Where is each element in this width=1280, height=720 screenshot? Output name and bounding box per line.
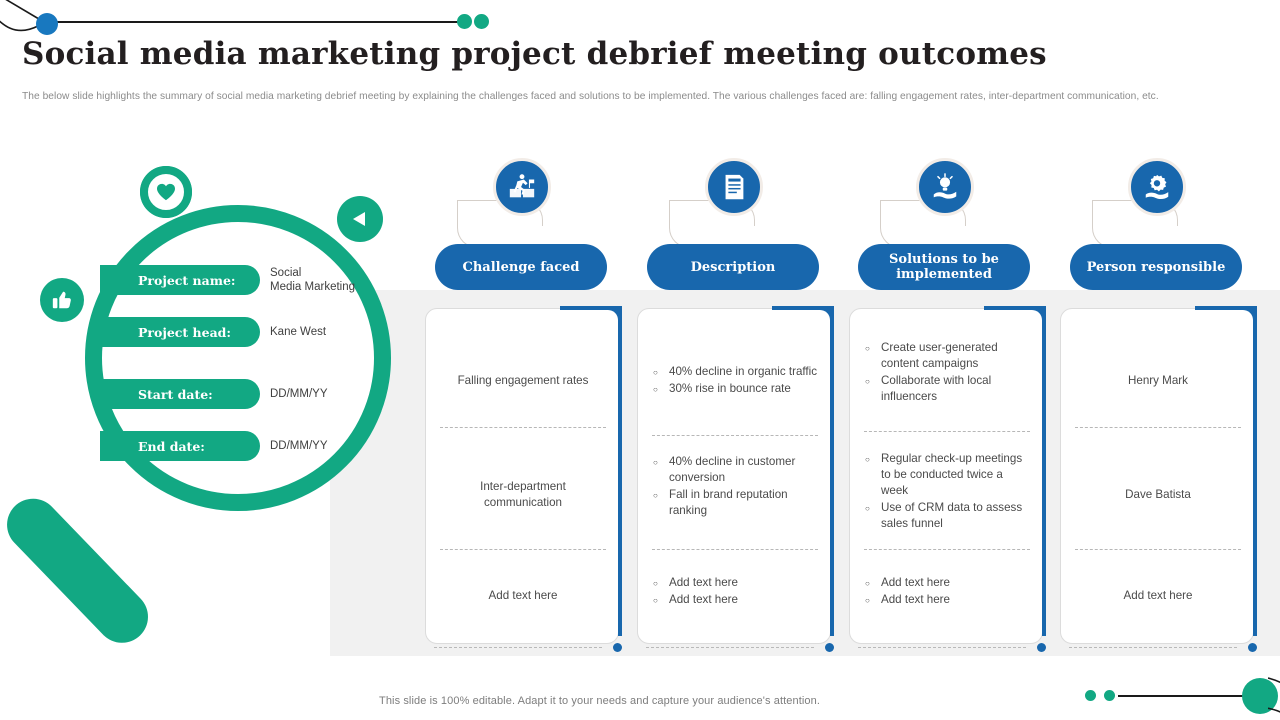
bullet-list: Regular check-up meetings to be conducte… [864,451,1030,533]
cell-divider [1075,427,1241,428]
cell-text: Dave Batista [1125,487,1191,503]
project-info-row: Project name: Social Media Marketing [100,265,420,295]
cell-solutions-1: Create user-generated content campaigns … [850,337,1044,409]
challenge-header-pill[interactable]: Challenge faced [435,244,607,290]
cell-divider [1075,549,1241,550]
thumb-glyph [51,289,73,311]
end-date-label-pill: End date: [100,431,260,461]
project-info-row: End date: DD/MM/YY [100,431,420,461]
end-date-label: End date: [138,439,205,454]
bottom-swoosh-icon [1268,674,1280,720]
cell-divider [864,549,1030,550]
solutions-header-label: Solutions to be implemented [858,252,1030,282]
card-bottom-dash [1069,647,1237,648]
card-accent-dot [1037,643,1046,652]
magnifier-handle-icon [0,488,159,654]
bottom-decoration [1080,676,1280,720]
person-header-label: Person responsible [1087,260,1226,275]
list-item: Fall in brand reputation ranking [652,487,818,519]
card-accent-dot [613,643,622,652]
cell-challenge-2: Inter-department communication [426,459,620,531]
cell-challenge-1: Falling engagement rates [426,345,620,417]
project-name-label: Project name: [138,273,236,288]
document-glyph [719,172,749,202]
bullet-list: Create user-generated content campaigns … [864,340,1030,406]
heart-icon [140,166,192,218]
magnifier-handle-cap [22,635,66,679]
top-green-dot-1 [457,14,472,29]
bullet-list: Add text here Add text here [652,575,818,609]
column-header-solutions[interactable]: Solutions to be implemented [858,158,1038,290]
start-date-label: Start date: [138,387,213,402]
cell-challenge-3: Add text here [426,571,620,621]
card-bottom-dash [434,647,602,648]
footer-note: This slide is 100% editable. Adapt it to… [379,695,820,707]
document-icon [705,158,763,216]
cell-divider [652,435,818,436]
card-solutions[interactable]: Create user-generated content campaigns … [849,308,1043,644]
slide-root: Social media marketing project debrief m… [0,0,1280,720]
cell-description-1: 40% decline in organic traffic 30% rise … [638,345,832,417]
cell-divider [440,427,606,428]
heart-glyph [156,183,176,201]
list-item: Regular check-up meetings to be conducte… [864,451,1030,499]
project-info-row: Project head: Kane West [100,317,420,347]
description-header-pill[interactable]: Description [647,244,819,290]
list-item: 40% decline in organic traffic [652,364,818,380]
top-blue-dot [36,13,58,35]
card-person[interactable]: Henry Mark Dave Batista Add text here [1060,308,1254,644]
bullet-list: 40% decline in customer conversion Fall … [652,454,818,520]
bottom-green-dot-2 [1104,690,1115,701]
project-name-value: Social Media Marketing [270,266,355,294]
thumbs-up-icon [40,278,84,322]
person-header-pill[interactable]: Person responsible [1070,244,1242,290]
card-accent-dot [1248,643,1257,652]
cell-description-3: Add text here Add text here [638,567,832,617]
project-head-label: Project head: [138,325,231,340]
lightbulb-hand-icon [916,158,974,216]
bottom-rule [1118,695,1258,697]
start-date-value: DD/MM/YY [270,387,328,401]
cell-solutions-3: Add text here Add text here [850,567,1044,617]
card-bottom-dash [858,647,1026,648]
cell-text: Falling engagement rates [458,373,589,389]
project-info-row: Start date: DD/MM/YY [100,379,420,409]
lightbulb-hand-glyph [930,172,960,202]
cell-text: Henry Mark [1128,373,1188,389]
project-head-value: Kane West [270,325,326,339]
page-subtitle: The below slide highlights the summary o… [22,90,1247,104]
project-head-label-pill: Project head: [100,317,260,347]
end-date-value: DD/MM/YY [270,439,328,453]
card-challenge[interactable]: Falling engagement rates Inter-departmen… [425,308,619,644]
cell-divider [652,549,818,550]
list-item: Add text here [864,575,1030,591]
card-bottom-dash [646,647,814,648]
hurdle-runner-icon [493,158,551,216]
project-info-list: Project name: Social Media Marketing Pro… [100,265,420,483]
card-description[interactable]: 40% decline in organic traffic 30% rise … [637,308,831,644]
cell-divider [864,431,1030,432]
solutions-header-pill[interactable]: Solutions to be implemented [858,244,1030,290]
column-header-description[interactable]: Description [647,158,827,290]
list-item: 40% decline in customer conversion [652,454,818,486]
cell-solutions-2: Regular check-up meetings to be conducte… [850,449,1044,535]
project-name-label-pill: Project name: [100,265,260,295]
cell-text: Add text here [1124,588,1193,604]
column-header-challenge[interactable]: Challenge faced [435,158,615,290]
hurdle-runner-glyph [507,172,537,202]
play-triangle-icon [337,196,383,242]
top-rule [48,21,460,23]
bullet-list: Add text here Add text here [864,575,1030,609]
challenge-header-label: Challenge faced [463,260,580,275]
bullet-list: 40% decline in organic traffic 30% rise … [652,364,818,398]
cell-person-2: Dave Batista [1061,459,1255,531]
cell-text: Add text here [489,588,558,604]
magnifier-graphic: Project name: Social Media Marketing Pro… [0,150,420,710]
list-item: Use of CRM data to assess sales funnel [864,500,1030,532]
gear-hand-icon [1128,158,1186,216]
cell-divider [440,549,606,550]
list-item: Create user-generated content campaigns [864,340,1030,372]
cell-person-1: Henry Mark [1061,345,1255,417]
list-item: Add text here [864,592,1030,608]
cell-text: Inter-department communication [440,479,606,511]
list-item: Collaborate with local influencers [864,373,1030,405]
card-accent-dot [825,643,834,652]
page-title: Social media marketing project debrief m… [22,36,1047,72]
cell-description-2: 40% decline in customer conversion Fall … [638,451,832,523]
gear-hand-glyph [1142,172,1172,202]
list-item: 30% rise in bounce rate [652,381,818,397]
list-item: Add text here [652,575,818,591]
start-date-label-pill: Start date: [100,379,260,409]
play-glyph [350,209,370,229]
cell-person-3: Add text here [1061,571,1255,621]
list-item: Add text here [652,592,818,608]
top-green-dot-2 [474,14,489,29]
column-header-person[interactable]: Person responsible [1070,158,1250,290]
bottom-green-dot-1 [1085,690,1096,701]
description-header-label: Description [691,260,776,275]
